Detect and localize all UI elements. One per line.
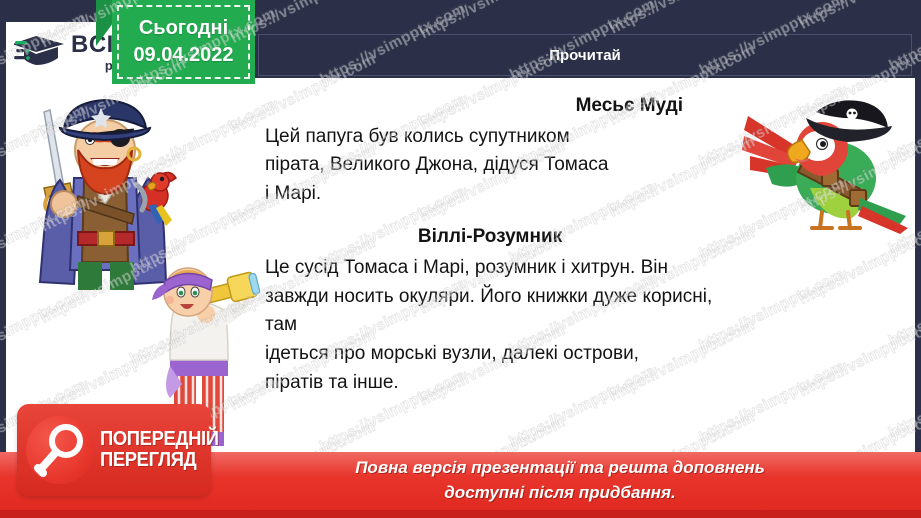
date-badge-body: Сьогодні 09.04.2022 [112, 0, 255, 84]
reading-content: Месьє Муді Цей папуга був колись супутни… [265, 92, 725, 398]
magnifier-icon [26, 416, 94, 484]
parrot-in-pirate-hat-illustration [740, 96, 912, 238]
character-paragraph-2: Це сусід Томаса і Марі, розумник і хитру… [265, 254, 725, 398]
slide-header-bar: Прочитай [258, 34, 912, 76]
character-heading-1: Месьє Муді [265, 92, 725, 121]
purchase-banner-text: Повна версія презентації та решта доповн… [230, 456, 890, 505]
graduation-cap-icon [14, 32, 66, 72]
preview-badge: ПОПЕРЕДНІЙ ПЕРЕГЛЯД [17, 404, 211, 496]
preview-badge-label: ПОПЕРЕДНІЙ ПЕРЕГЛЯД [100, 429, 219, 471]
purchase-banner-strip [0, 510, 921, 518]
character-heading-2: Віллі-Розумник [265, 223, 725, 252]
character-paragraph-1: Цей папуга був колись супутником пірата,… [265, 123, 725, 210]
date-badge-value: 09.04.2022 [133, 42, 233, 69]
page-title: Прочитай [549, 47, 621, 64]
slide-canvas: BCIM pptx Сьогодні 09.04.2022 Прочитай М… [0, 0, 921, 518]
date-badge-label: Сьогодні [139, 15, 228, 42]
